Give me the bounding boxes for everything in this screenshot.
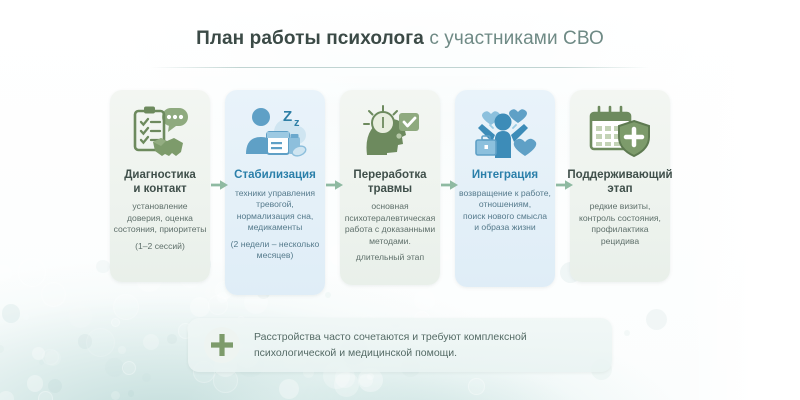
footer-note-line1: Расстройства часто сочетаются и требуют … (254, 329, 527, 345)
footer-note-line2: психологической и медицинской помощи. (254, 345, 527, 361)
stage-card-diagnostika[interactable]: Диагностика и контакт установление довер… (110, 90, 210, 282)
page-title: План работы психолога с участниками СВО (0, 28, 800, 50)
stage-card-pererabotka-travmy[interactable]: Переработка травмы основная психотералев… (340, 90, 440, 285)
medical-plus-icon (204, 327, 240, 363)
arrow-right-icon (556, 178, 573, 190)
stage-body-text: редкие визиты, контроль состояния, профи… (579, 201, 661, 246)
footer-note-text: Расстройства часто сочетаются и требуют … (254, 329, 527, 361)
stage-title: Поддерживающий этап (563, 169, 676, 196)
stage-title: Стабилизация (230, 169, 320, 183)
title-divider (150, 67, 650, 68)
calendar-shield-plus-icon (588, 96, 652, 168)
stage-note: длительный этап (345, 252, 436, 264)
svg-text:Z: Z (283, 108, 292, 125)
person-arms-up-hearts-briefcase-icon (473, 96, 537, 168)
stage-card-integraciya[interactable]: Интеграция возвращение к работе, отношен… (455, 90, 555, 287)
page-title-bold: План работы психолога (196, 28, 424, 49)
stage-title: Диагностика и контакт (120, 169, 200, 196)
stage-body: основная психотералевтическая работа с д… (342, 196, 439, 271)
stage-body: техники управления тревогой, нормализаци… (228, 183, 323, 270)
clipboard-checklist-handshake-icon (129, 96, 191, 168)
person-sleep-medication-icon: Z z (243, 96, 307, 168)
arrow-right-icon (211, 178, 228, 190)
footer-note: Расстройства часто сочетаются и требуют … (188, 318, 612, 372)
stage-title: Переработка травмы (349, 169, 430, 196)
stage-title: Интеграция (468, 169, 542, 183)
stage-note: (1–2 сессий) (114, 241, 207, 253)
stage-body-text: установление доверия, оценка состояния, … (114, 201, 207, 234)
arrow-right-icon (326, 178, 343, 190)
stage-body: возвращение к работе, отношениям, поиск … (456, 183, 554, 246)
stages-row: Диагностика и контакт установление довер… (110, 90, 690, 295)
stage-card-stabilizaciya[interactable]: Z z Стабилизация техники управления трев… (225, 90, 325, 295)
stage-body: редкие визиты, контроль состояния, профи… (576, 196, 664, 259)
stage-body-text: техники управления тревогой, нормализаци… (235, 188, 315, 233)
svg-text:z: z (294, 117, 300, 129)
stage-body-text: основная психотералевтическая работа с д… (345, 201, 436, 246)
page-title-normal: с участниками СВО (424, 28, 604, 49)
arrow-right-icon (441, 178, 458, 190)
background-right-fade (680, 0, 800, 400)
head-lightbulb-check-icon (359, 96, 421, 168)
infographic-canvas: План работы психолога с участниками СВО (0, 0, 800, 400)
stage-body-text: возвращение к работе, отношениям, поиск … (459, 188, 551, 233)
stage-body: установление доверия, оценка состояния, … (111, 196, 210, 259)
stage-note: (2 недели – несколько месяцев) (231, 239, 320, 262)
stage-card-podderzhivayushchiy-etap[interactable]: Поддерживающий этап редкие визиты, контр… (570, 90, 670, 282)
